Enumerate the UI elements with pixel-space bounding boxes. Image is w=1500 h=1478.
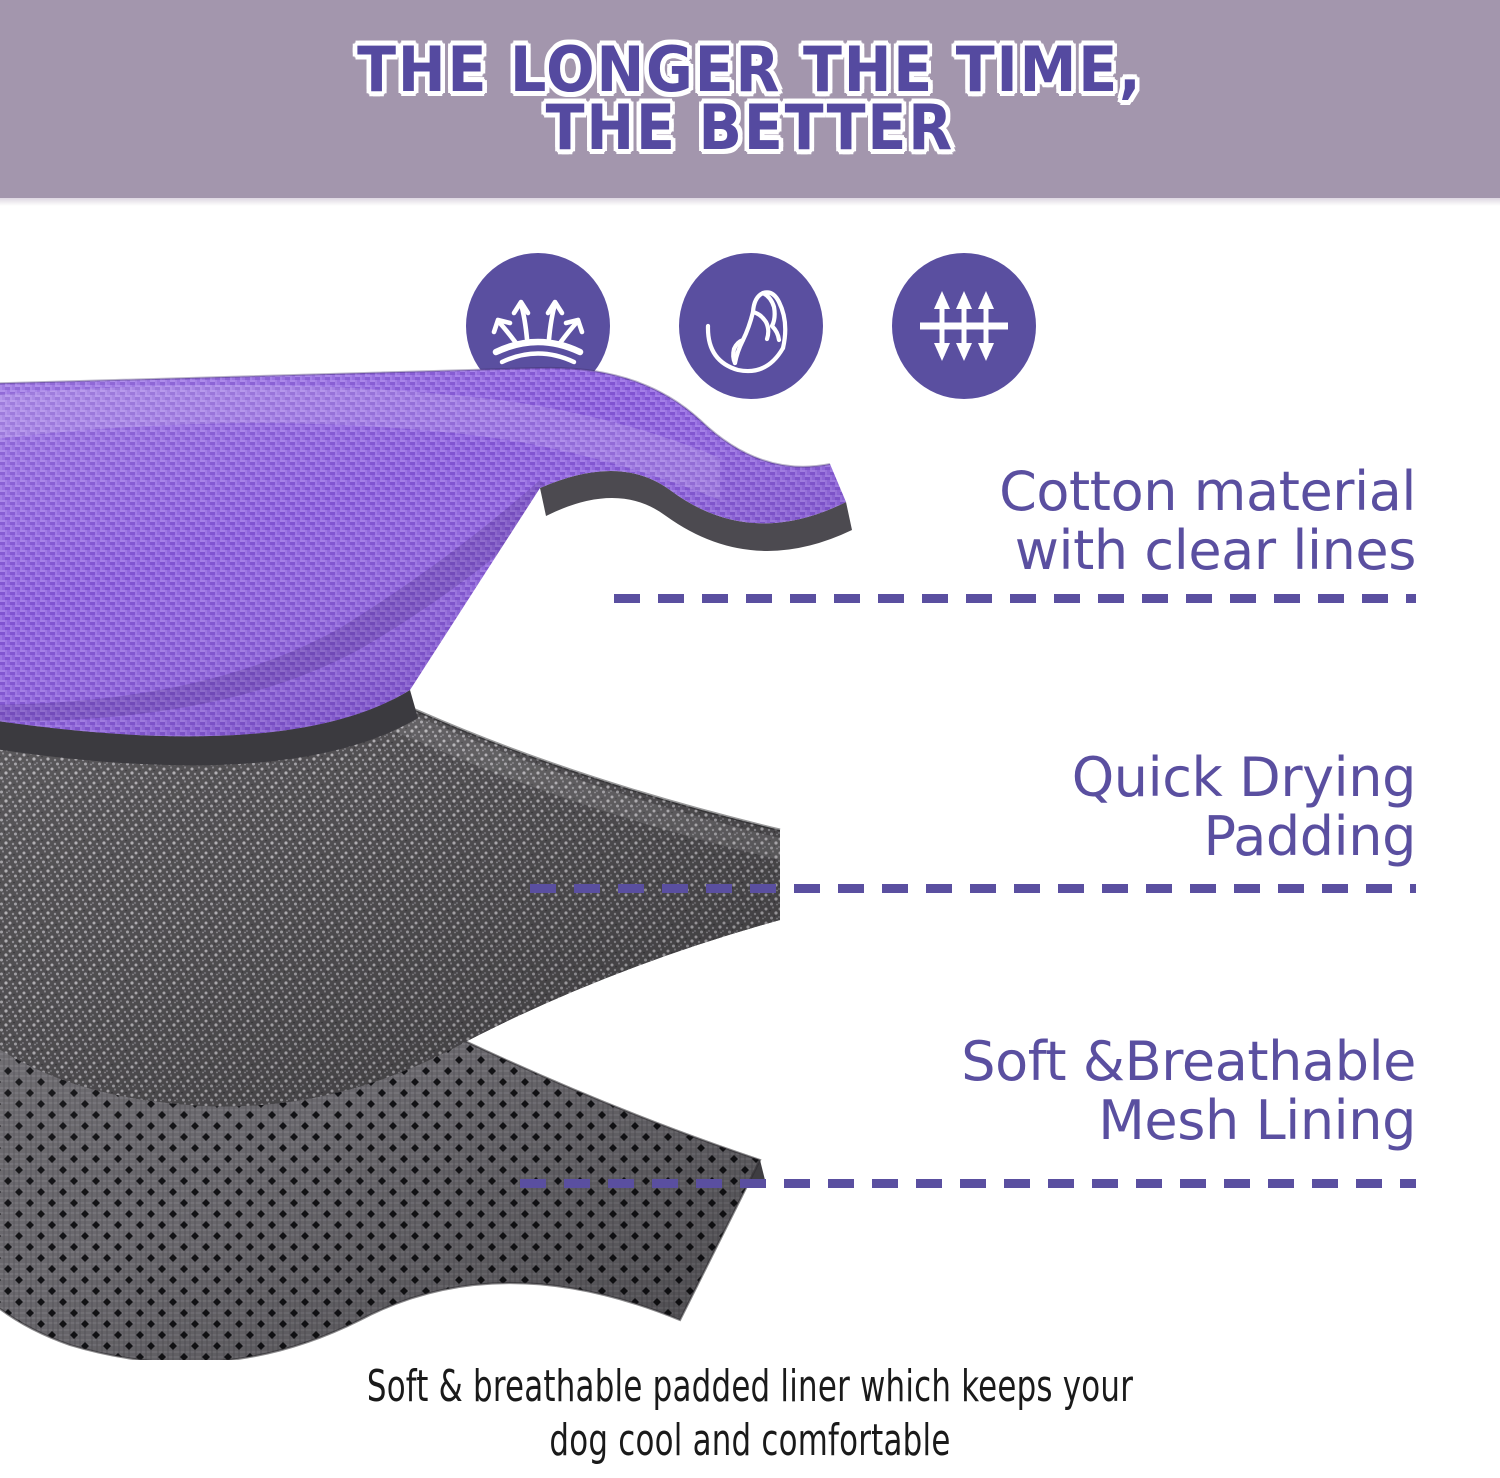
callout-dash-line-2: [530, 884, 1416, 893]
callout-label-mesh-lining: Soft &Breathable Mesh Lining: [696, 1032, 1416, 1151]
header-banner: THE LONGER THE TIME, THE BETTER: [0, 0, 1500, 202]
header-bottom-glow: [0, 198, 1500, 206]
page-title: THE LONGER THE TIME, THE BETTER: [357, 41, 1142, 160]
callout-label-quick-drying-padding: Quick Drying Padding: [696, 748, 1416, 867]
bottom-caption: Soft & breathable padded liner which kee…: [165, 1360, 1335, 1467]
air-permeability-arrows-icon: [892, 253, 1036, 399]
callout-dash-line-3: [520, 1179, 1416, 1188]
callout-label-cotton-material: Cotton material with clear lines: [696, 462, 1416, 581]
callout-dash-line-1: [614, 594, 1416, 603]
